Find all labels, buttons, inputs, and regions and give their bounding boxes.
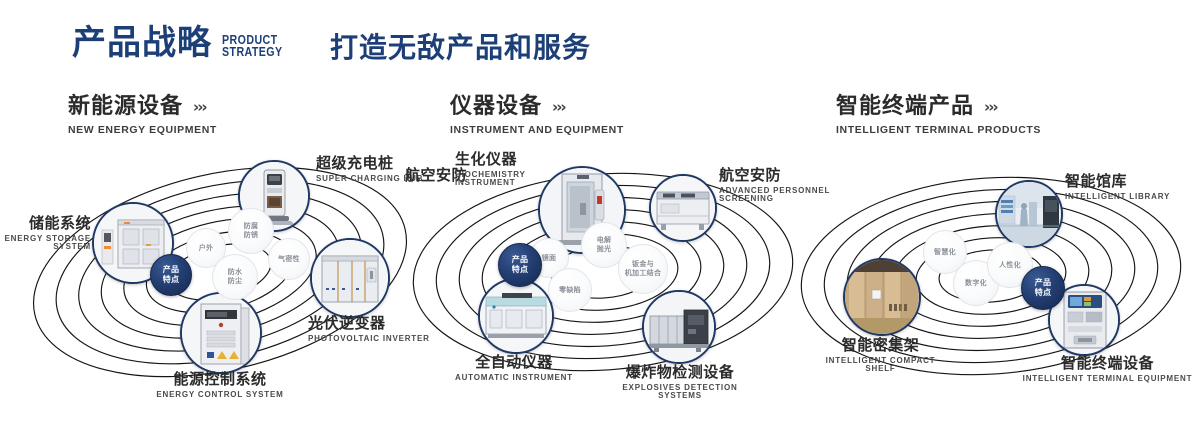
feature-bubble-airtight: 气密性 <box>268 238 310 280</box>
feature-bubble-product-features: 产品特点 <box>150 254 192 296</box>
section-title-instrument-en: INSTRUMENT AND EQUIPMENT <box>450 125 624 136</box>
product-label-intelligent-compact-shelf: 智能密集架 INTELLIGENT COMPACT SHELF <box>803 338 958 374</box>
page-title-english-line2: STRATEGY <box>222 46 283 58</box>
energy-control-cabinet-illustration <box>182 294 260 372</box>
section-title-instrument-cn: 仪器设备 <box>450 96 542 118</box>
chevron-right-icon: ››› <box>193 100 206 115</box>
product-node-energy-control-system[interactable] <box>180 292 262 374</box>
section-title-new-energy: 新能源设备 ››› NEW ENERGY EQUIPMENT <box>68 96 217 136</box>
cluster-new-energy: 储能系统 ENERGY STORAGE SYSTEM 超级充电桩 <box>20 150 420 400</box>
photovoltaic-inverter-illustration <box>312 240 388 316</box>
product-node-personnel-screening[interactable] <box>649 174 717 242</box>
feature-bubble-product-features: 产品特点 <box>498 243 542 287</box>
product-label-biochemistry-instrument: 生化仪器 BIOCHEMISTRY INSTRUMENT <box>455 152 565 188</box>
feature-bubble-product-features: 产品特点 <box>1021 266 1065 310</box>
product-label-automatic-instrument: 全自动仪器 AUTOMATIC INSTRUMENT <box>430 355 598 382</box>
product-label-explosives-detection: 爆炸物检测设备 EXPLOSIVES DETECTION SYSTEMS <box>600 365 760 401</box>
section-title-intelligent-terminal-cn: 智能终端产品 <box>836 96 974 118</box>
poster-canvas: 产品战略 PRODUCT STRATEGY 打造无敌产品和服务 新能源设备 ››… <box>0 0 1200 422</box>
explosives-detection-illustration <box>644 292 714 362</box>
product-label-energy-storage: 储能系统 ENERGY STORAGE SYSTEM <box>0 216 91 252</box>
intelligent-library-photo <box>997 182 1061 246</box>
product-label-intelligent-library: 智能馆库 INTELLIGENT LIBRARY <box>1065 174 1195 201</box>
chevron-right-icon: ››› <box>552 100 565 115</box>
product-label-energy-control-system: 能源控制系统 ENERGY CONTROL SYSTEM <box>130 372 310 399</box>
product-node-intelligent-library[interactable] <box>995 180 1063 248</box>
cluster-instrument: 航空安防 生化仪器 BIOCHEMISTRY INSTRUMENT <box>405 150 805 400</box>
product-node-intelligent-compact-shelf[interactable] <box>843 258 921 336</box>
section-title-new-energy-cn: 新能源设备 <box>68 96 183 118</box>
page-title-english: PRODUCT STRATEGY <box>222 34 283 58</box>
product-label-intelligent-terminal-equipment: 智能终端设备 INTELLIGENT TERMINAL EQUIPMENT <box>1020 356 1195 383</box>
product-node-automatic-instrument[interactable] <box>478 278 554 354</box>
section-title-new-energy-en: NEW ENERGY EQUIPMENT <box>68 125 217 136</box>
screening-machine-illustration <box>651 176 715 240</box>
feature-bubble-sheetmetal-machining: 钣金与机加工结合 <box>618 244 668 294</box>
page-subtitle: 打造无敌产品和服务 <box>330 34 591 62</box>
automatic-instrument-illustration <box>480 280 552 352</box>
cluster-intelligent-terminal: 智能馆库 INTELLIGENT LIBRARY <box>795 150 1195 400</box>
feature-bubble-anticorrosion: 防腐防锈 <box>228 208 274 254</box>
section-title-instrument: 仪器设备 ››› INSTRUMENT AND EQUIPMENT <box>450 96 624 136</box>
page-title: 产品战略 <box>72 26 212 60</box>
section-title-intelligent-terminal: 智能终端产品 ››› INTELLIGENT TERMINAL PRODUCTS <box>836 96 1041 136</box>
feature-bubble-zero-defect: 零缺陷 <box>548 268 592 312</box>
poster-header: 产品战略 PRODUCT STRATEGY <box>72 26 296 60</box>
feature-bubble-waterproof: 防水防尘 <box>212 254 258 300</box>
chevron-right-icon: ››› <box>984 100 997 115</box>
compact-shelf-photo <box>845 260 919 334</box>
section-title-intelligent-terminal-en: INTELLIGENT TERMINAL PRODUCTS <box>836 125 1041 136</box>
product-node-photovoltaic-inverter[interactable] <box>310 238 390 318</box>
product-node-explosives-detection[interactable] <box>642 290 716 364</box>
